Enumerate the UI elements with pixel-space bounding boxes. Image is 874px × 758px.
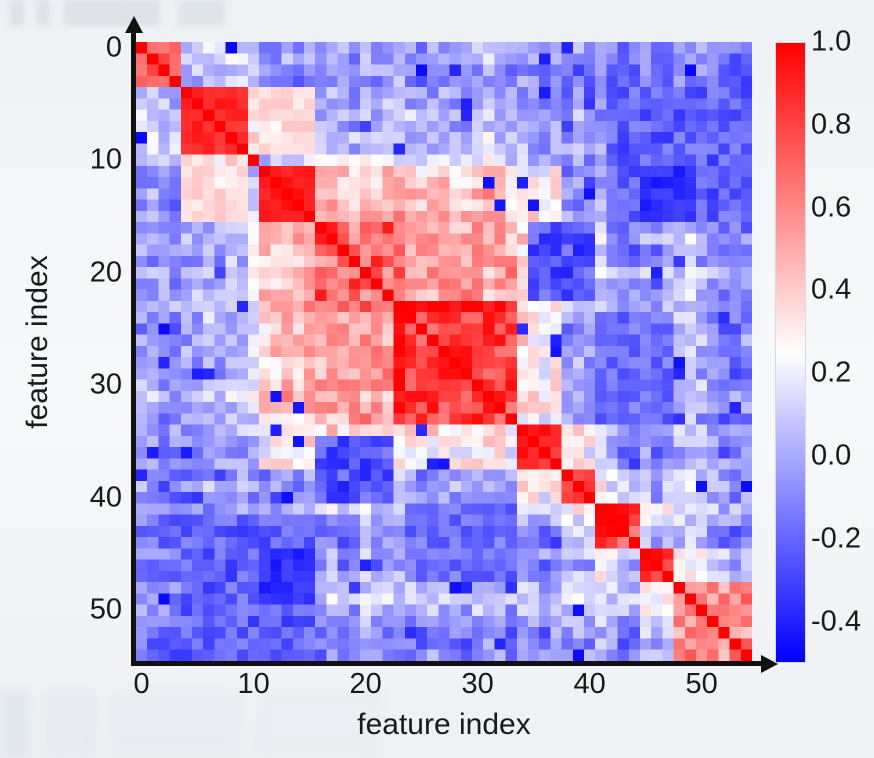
correlation-matrix-figure: 01020304050 01020304050 feature index fe… <box>0 0 874 758</box>
x-tick-label: 50 <box>685 668 717 701</box>
x-axis-line <box>131 661 764 666</box>
y-tick-label: 10 <box>90 144 122 177</box>
x-tick-label: 20 <box>349 668 381 701</box>
y-axis-tick-labels: 01020304050 <box>0 0 122 758</box>
colorbar: 1.00.80.60.40.20.0-0.2-0.4 <box>775 42 874 663</box>
colorbar-tick-label: 0.4 <box>811 274 851 307</box>
y-axis-title: feature index <box>21 182 55 502</box>
x-tick-label: 10 <box>237 668 269 701</box>
y-tick-label: 20 <box>90 256 122 289</box>
y-tick-label: 0 <box>106 31 122 64</box>
y-tick-label: 40 <box>90 481 122 514</box>
colorbar-tick-label: -0.2 <box>811 522 861 555</box>
colorbar-tick-label: 0.8 <box>811 108 851 141</box>
heatmap-plot-area <box>136 42 752 661</box>
y-tick-label: 50 <box>90 594 122 627</box>
colorbar-tick-label: 0.0 <box>811 440 851 473</box>
x-tick-label: 0 <box>134 668 150 701</box>
colorbar-tick-label: 0.2 <box>811 357 851 390</box>
x-tick-label: 40 <box>573 668 605 701</box>
colorbar-tick-label: 1.0 <box>811 26 851 59</box>
colorbar-gradient <box>775 42 806 663</box>
x-axis-title: feature index <box>136 708 752 742</box>
y-axis-arrow-icon <box>125 16 143 33</box>
y-axis-line <box>131 30 136 663</box>
x-tick-label: 30 <box>461 668 493 701</box>
colorbar-tick-label: 0.6 <box>811 191 851 224</box>
heatmap-canvas <box>136 42 752 661</box>
colorbar-tick-label: -0.4 <box>811 605 861 638</box>
y-tick-label: 30 <box>90 369 122 402</box>
